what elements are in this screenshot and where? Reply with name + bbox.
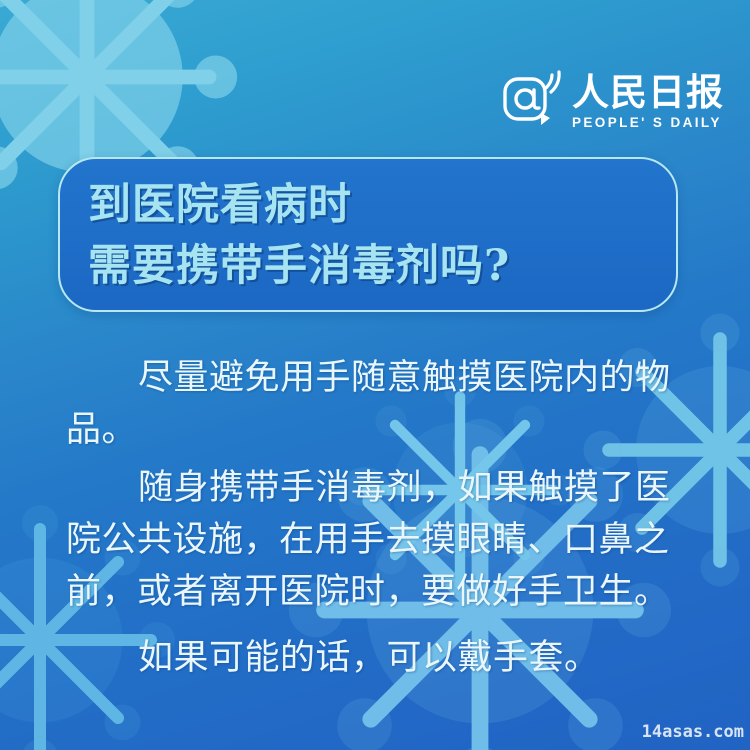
headline-line-1: 到医院看病时 (88, 175, 658, 236)
headline-box: 到医院看病时 需要携带手消毒剂吗? (58, 157, 678, 312)
headline-text: 到医院看病时 需要携带手消毒剂吗? (88, 175, 658, 297)
logo-name-en: PEOPLE' S DAILY (572, 116, 722, 130)
site-watermark: 14asas.com (642, 722, 744, 742)
body-copy: 尽量避免用手随意触摸医院内的物品。 随身携带手消毒剂，如果触摸了医院公共设施，在… (66, 352, 688, 690)
poster-canvas: 人民日报 PEOPLE' S DAILY 到医院看病时 需要携带手消毒剂吗? 尽… (0, 0, 750, 750)
peoples-daily-logo: 人民日报 PEOPLE' S DAILY (502, 70, 724, 130)
logo-text: 人民日报 PEOPLE' S DAILY (572, 74, 724, 130)
body-paragraph: 尽量避免用手随意触摸医院内的物品。 (66, 352, 688, 456)
at-sign-signal-icon (502, 70, 564, 130)
body-paragraph: 如果可能的话，可以戴手套。 (66, 632, 688, 684)
headline-line-2: 需要携带手消毒剂吗? (88, 236, 658, 297)
body-paragraph: 随身携带手消毒剂，如果触摸了医院公共设施，在用手去摸眼睛、口鼻之前，或者离开医院… (66, 462, 688, 618)
logo-name-cn: 人民日报 (572, 74, 724, 111)
